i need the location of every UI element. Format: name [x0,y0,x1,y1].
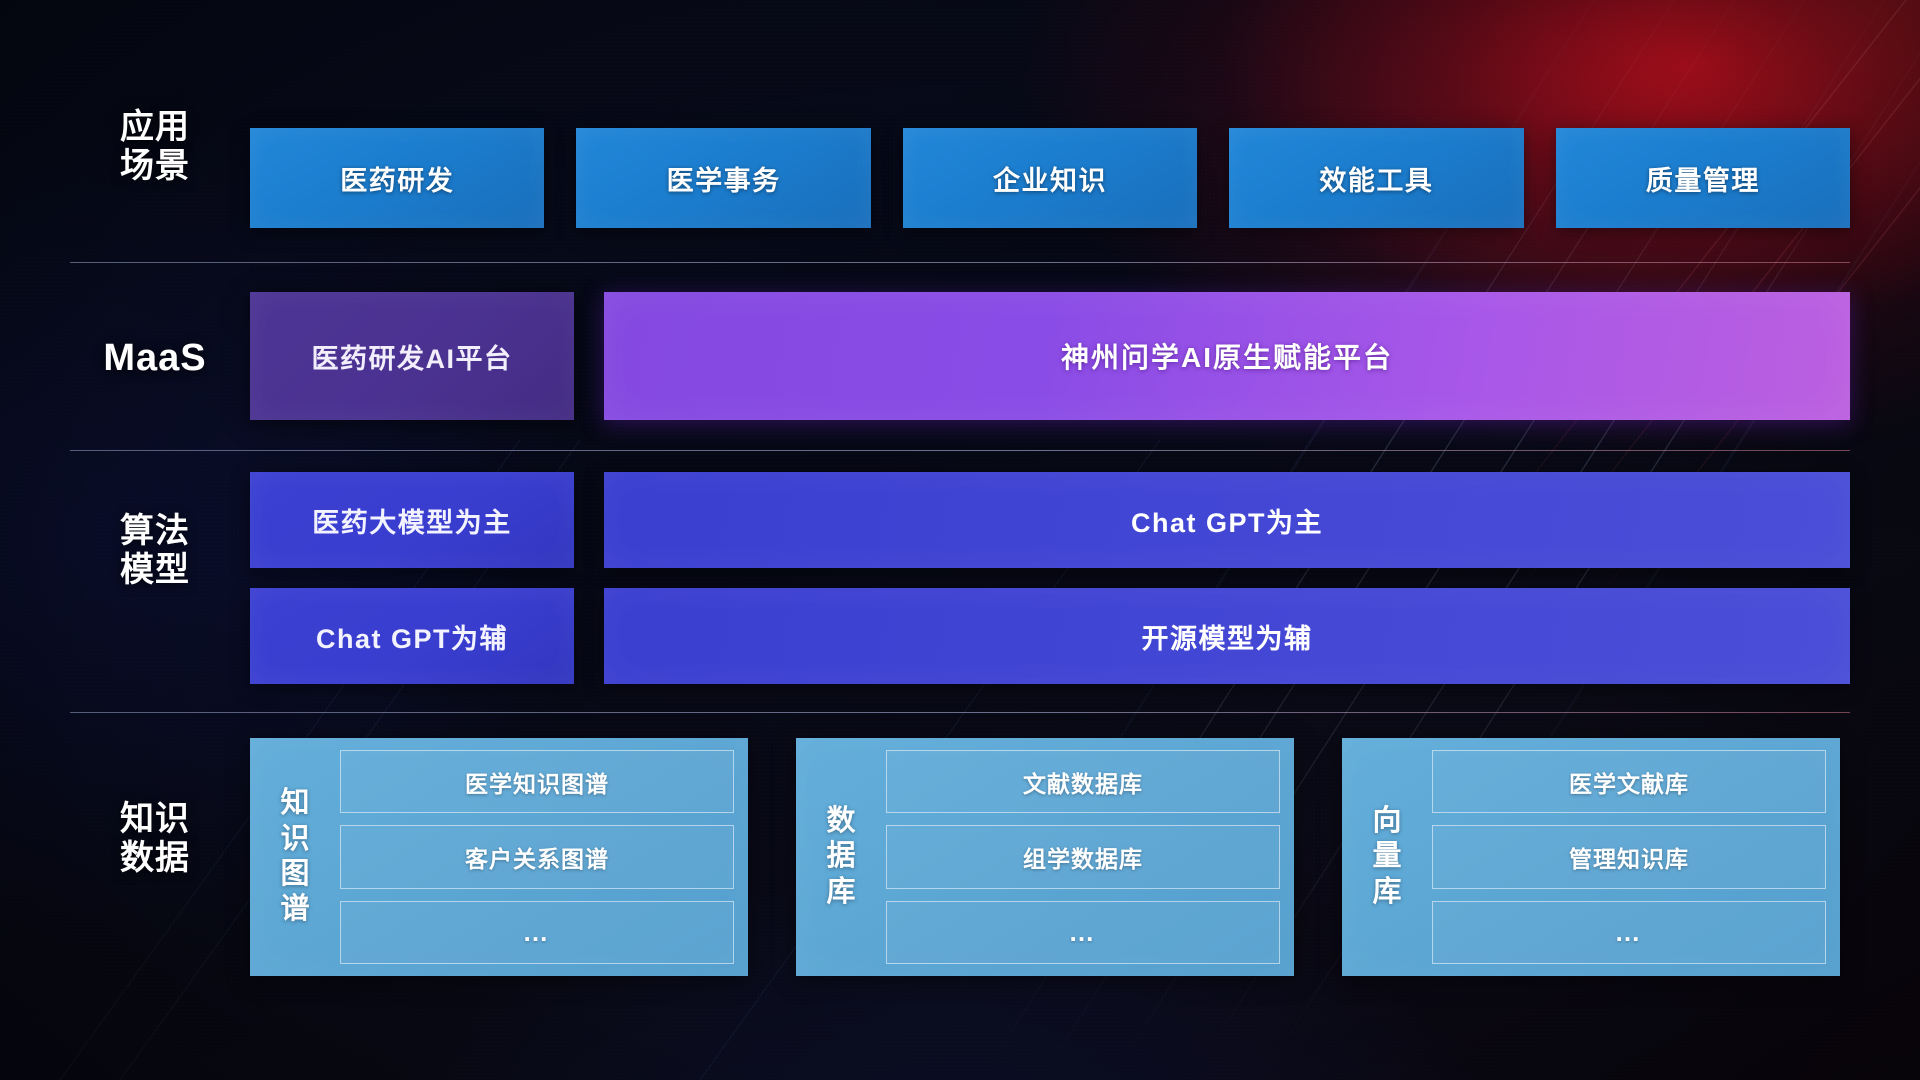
scenario-box-2[interactable]: 企业知识 [903,128,1197,228]
panel-title-char: 据 [826,839,855,874]
panel-title-char: 数 [826,804,855,839]
scenario-label: 效能工具 [1319,159,1433,198]
scenario-box-list: 医药研发 医学事务 企业知识 效能工具 质量管理 [250,128,1850,228]
knowledge-item[interactable]: 组学数据库 [886,825,1280,888]
knowledge-panel-vector-store[interactable]: 向 量 库 医学文献库 管理知识库 … [1342,738,1840,976]
panel-title-char: 量 [1372,839,1401,874]
algo-banner-chatgpt-primary[interactable]: Chat GPT为主 [604,472,1850,568]
panel-title-char: 向 [1372,804,1401,839]
knowledge-item-list: 文献数据库 组学数据库 … [872,750,1280,964]
knowledge-item-label: … [523,917,552,948]
row-label-line: 知识 [70,800,240,839]
scenario-box-3[interactable]: 效能工具 [1229,128,1523,228]
knowledge-panel-title-knowledge-graph: 知 识 图 谱 [264,750,326,964]
knowledge-item-more[interactable]: … [886,901,1280,964]
algo-box-label: Chat GPT为辅 [316,617,508,656]
algo-box-label: 医药大模型为主 [312,501,512,540]
row-label-line: 数据 [70,839,240,878]
knowledge-item-label: 管理知识库 [1569,840,1689,874]
knowledge-panel-database[interactable]: 数 据 库 文献数据库 组学数据库 … [796,738,1294,976]
row-label-line: 场景 [70,147,240,186]
row-label-line: MaaS [70,336,240,380]
scenario-box-0[interactable]: 医药研发 [250,128,544,228]
knowledge-item-label: 组学数据库 [1023,840,1143,874]
knowledge-item-label: 文献数据库 [1023,765,1143,799]
algo-box-pharma-model-primary[interactable]: 医药大模型为主 [250,472,574,568]
algo-box-chatgpt-secondary[interactable]: Chat GPT为辅 [250,588,574,684]
knowledge-item-list: 医学文献库 管理知识库 … [1418,750,1826,964]
row-label-line: 模型 [70,551,240,590]
scenario-box-4[interactable]: 质量管理 [1556,128,1850,228]
row-label-line: 应用 [70,108,240,147]
knowledge-panel-title-database: 数 据 库 [810,750,872,964]
row-label-algorithm-model: 算法 模型 [70,512,240,591]
panel-title-char: 谱 [280,892,309,927]
knowledge-item[interactable]: 医学知识图谱 [340,750,734,813]
row-label-knowledge-data: 知识 数据 [70,800,240,879]
knowledge-item[interactable]: 医学文献库 [1432,750,1826,813]
scenario-box-1[interactable]: 医学事务 [576,128,870,228]
panel-title-char: 图 [280,857,309,892]
algo-banner-label: 开源模型为辅 [1142,617,1313,656]
panel-title-char: 库 [1372,875,1401,910]
algo-banner-label: Chat GPT为主 [1131,501,1323,540]
panel-title-char: 识 [280,822,309,857]
scenario-label: 企业知识 [993,159,1107,198]
divider-2 [70,450,1850,451]
divider-3 [70,712,1850,713]
knowledge-panel-title-vector-store: 向 量 库 [1356,750,1418,964]
maas-box-label: 医药研发AI平台 [312,337,513,376]
knowledge-item-list: 医学知识图谱 客户关系图谱 … [326,750,734,964]
knowledge-item-label: 医学知识图谱 [465,765,609,799]
knowledge-panel-knowledge-graph[interactable]: 知 识 图 谱 医学知识图谱 客户关系图谱 … [250,738,748,976]
scenario-label: 质量管理 [1646,159,1760,198]
knowledge-item-more[interactable]: … [340,901,734,964]
row-label-maas: MaaS [70,336,240,380]
row-label-line: 算法 [70,512,240,551]
knowledge-item-label: 医学文献库 [1569,765,1689,799]
scenario-label: 医药研发 [340,159,454,198]
knowledge-item-label: … [1615,917,1644,948]
scenario-label: 医学事务 [667,159,781,198]
architecture-diagram: 应用 场景 医药研发 医学事务 企业知识 效能工具 质量管理 MaaS 医药研发… [0,0,1920,1080]
knowledge-item[interactable]: 客户关系图谱 [340,825,734,888]
maas-box-pharma-ai-platform[interactable]: 医药研发AI平台 [250,292,574,420]
panel-title-char: 库 [826,875,855,910]
knowledge-item[interactable]: 文献数据库 [886,750,1280,813]
knowledge-panel-list: 知 识 图 谱 医学知识图谱 客户关系图谱 … 数 据 库 [250,738,1850,976]
knowledge-item-label: … [1069,917,1098,948]
knowledge-item[interactable]: 管理知识库 [1432,825,1826,888]
maas-banner-label: 神州问学AI原生赋能平台 [1061,336,1393,376]
knowledge-item-more[interactable]: … [1432,901,1826,964]
knowledge-item-label: 客户关系图谱 [465,840,609,874]
algo-banner-opensource-secondary[interactable]: 开源模型为辅 [604,588,1850,684]
divider-1 [70,262,1850,263]
panel-title-char: 知 [280,786,309,821]
row-label-application-scenario: 应用 场景 [70,108,240,187]
maas-banner-shenzhou-platform[interactable]: 神州问学AI原生赋能平台 [604,292,1850,420]
